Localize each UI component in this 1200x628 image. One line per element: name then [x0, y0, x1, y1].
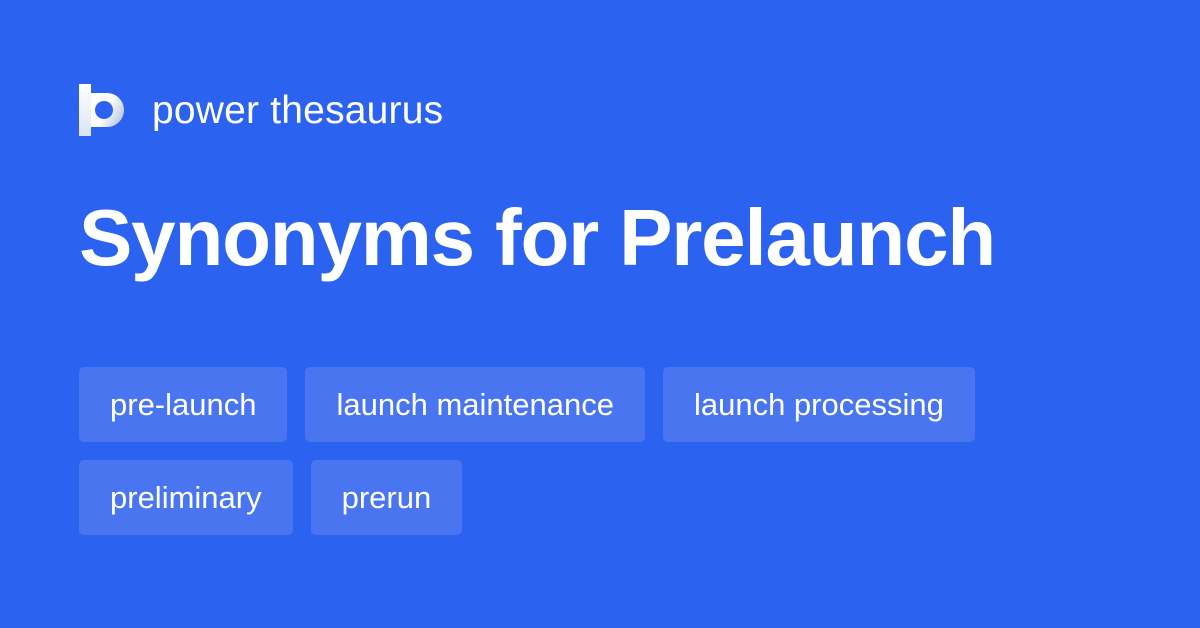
synonym-chip[interactable]: launch maintenance [305, 367, 644, 442]
synonym-chip[interactable]: pre-launch [79, 367, 287, 442]
brand-lockup[interactable]: power thesaurus [79, 82, 443, 138]
synonym-label: launch processing [694, 389, 944, 420]
synonym-label: launch maintenance [336, 389, 613, 420]
share-card: power thesaurus Synonyms for Prelaunch p… [0, 0, 1200, 628]
page-title: Synonyms for Prelaunch [79, 198, 995, 278]
synonym-chip[interactable]: prerun [311, 460, 463, 535]
brand-name: power thesaurus [152, 91, 443, 130]
synonym-label: pre-launch [110, 389, 256, 420]
synonym-list: pre-launch launch maintenance launch pro… [79, 367, 1119, 535]
synonym-chip[interactable]: preliminary [79, 460, 293, 535]
power-thesaurus-b-logo-icon [79, 84, 125, 136]
synonym-label: preliminary [110, 482, 262, 513]
synonym-chip[interactable]: launch processing [663, 367, 975, 442]
synonym-label: prerun [342, 482, 432, 513]
